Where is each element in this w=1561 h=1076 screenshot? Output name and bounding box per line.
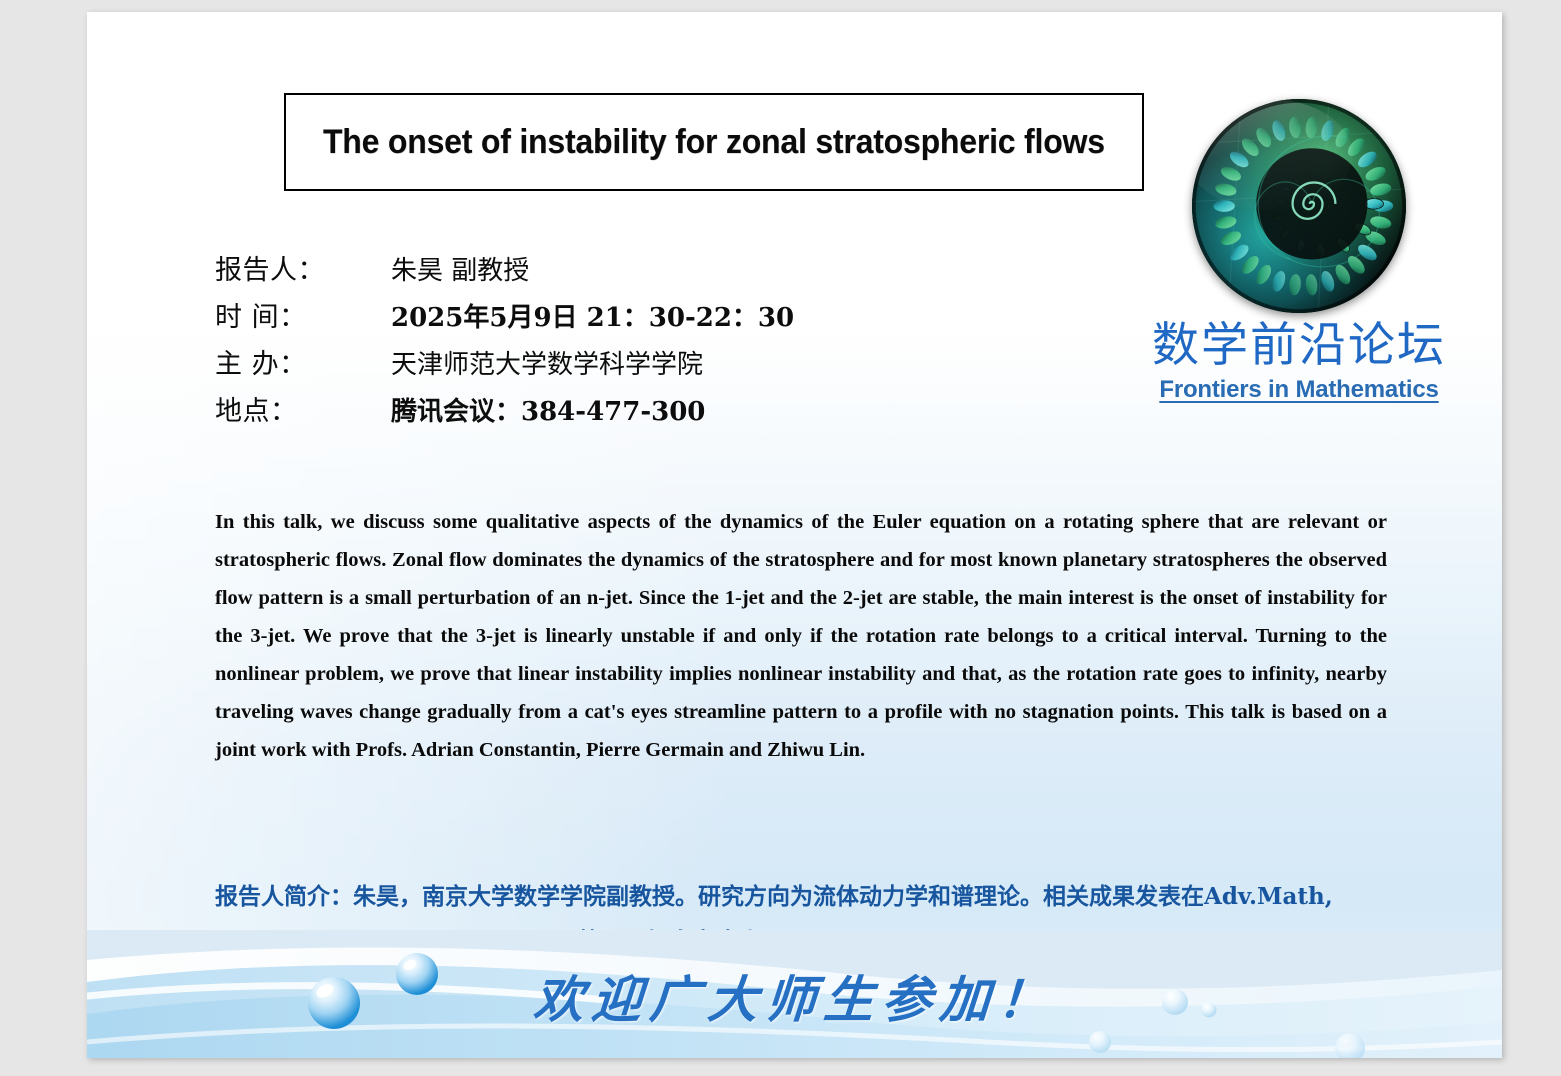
info-label-speaker: 报告人： xyxy=(215,248,391,287)
fractal-spiral-emblem-icon xyxy=(1192,99,1406,313)
info-label-organizer: 主 办： xyxy=(215,342,391,381)
info-row-organizer: 主 办： 天津师范大学数学科学学院 xyxy=(215,342,915,389)
info-row-time: 时 间： 2025年5月9日 21：30-22：30 xyxy=(215,295,915,342)
info-value-speaker: 朱昊 副教授 xyxy=(391,250,529,287)
info-label-venue: 地点： xyxy=(215,389,391,428)
forum-name-cn: 数学前沿论坛 xyxy=(1109,319,1489,372)
info-value-venue: 腾讯会议：384-477-300 xyxy=(391,391,705,428)
abstract-text: In this talk, we discuss some qualitativ… xyxy=(215,503,1387,769)
footer-wave-decoration xyxy=(87,930,1502,1058)
abstract-section: In this talk, we discuss some qualitativ… xyxy=(215,503,1387,769)
info-value-organizer: 天津师范大学数学科学学院 xyxy=(391,344,703,381)
poster-slide: The onset of instability for zonal strat… xyxy=(87,12,1502,1058)
info-value-time: 2025年5月9日 21：30-22：30 xyxy=(391,297,794,334)
info-row-speaker: 报告人： 朱昊 副教授 xyxy=(215,248,915,295)
forum-logo-block: 数学前沿论坛 Frontiers in Mathematics xyxy=(1109,84,1489,404)
poster-title-box: The onset of instability for zonal strat… xyxy=(284,93,1144,191)
info-row-venue: 地点： 腾讯会议：384-477-300 xyxy=(215,389,915,436)
forum-name-en: Frontiers in Mathematics xyxy=(1109,376,1489,404)
screenshot-canvas: The onset of instability for zonal strat… xyxy=(0,0,1561,1076)
info-label-time: 时 间： xyxy=(215,295,391,334)
page-title: The onset of instability for zonal strat… xyxy=(323,123,1105,162)
talk-info-table: 报告人： 朱昊 副教授 时 间： 2025年5月9日 21：30-22：30 主… xyxy=(215,248,915,436)
